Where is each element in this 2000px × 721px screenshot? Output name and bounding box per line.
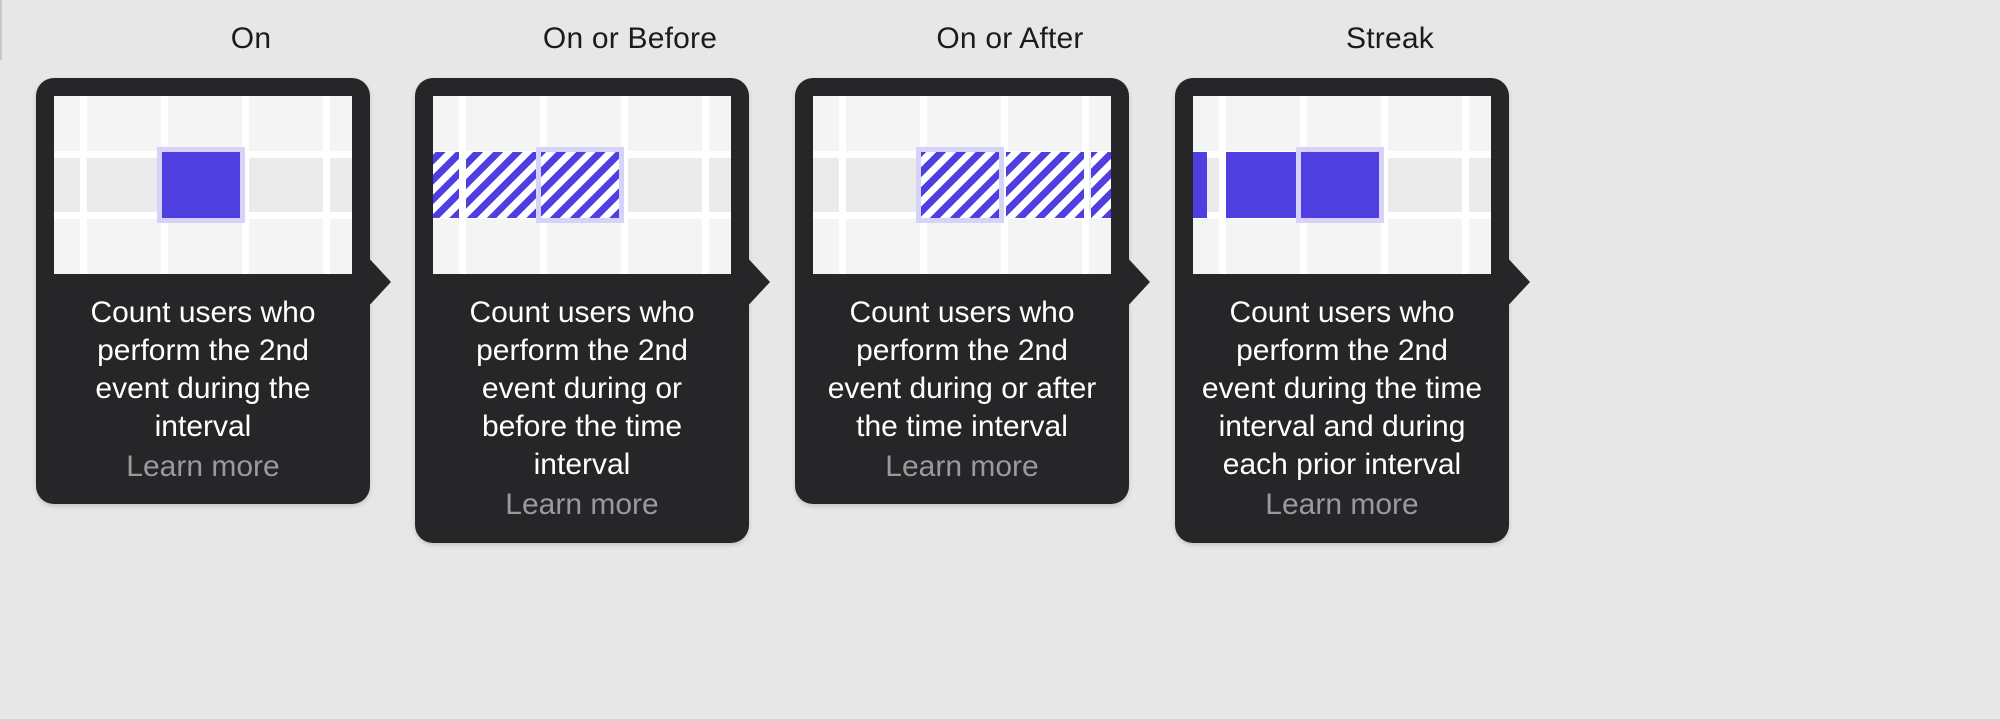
- illustration-on-or-after: [813, 96, 1111, 274]
- column-header-on: On: [36, 0, 466, 54]
- column-header-on-or-after: On or After: [795, 0, 1225, 54]
- illustration-streak: [1193, 96, 1491, 274]
- column-header-on-or-before: On or Before: [415, 0, 845, 54]
- card-description: Count users who perform the 2nd event du…: [54, 294, 352, 446]
- card-description: Count users who perform the 2nd event du…: [433, 294, 731, 484]
- illustration-marks: [1193, 96, 1491, 274]
- illustration-marks: [433, 96, 731, 274]
- card-description: Count users who perform the 2nd event du…: [813, 294, 1111, 446]
- option-card-on[interactable]: Count users who perform the 2nd event du…: [36, 78, 370, 504]
- event-hatch: [433, 152, 459, 218]
- illustration-marks: [54, 96, 352, 274]
- event-hatch: [1006, 152, 1084, 218]
- learn-more-link[interactable]: Learn more: [54, 448, 352, 486]
- flow-chevron-icon: [1504, 254, 1530, 310]
- event-bar: [1193, 152, 1207, 218]
- event-bar: [1226, 152, 1296, 218]
- learn-more-link[interactable]: Learn more: [813, 448, 1111, 486]
- illustration-marks: [813, 96, 1111, 274]
- event-bar: [162, 152, 240, 218]
- option-column-streak: Streak: [1175, 0, 1605, 543]
- illustration-on-or-before: [433, 96, 731, 274]
- option-card-on-or-before[interactable]: Count users who perform the 2nd event du…: [415, 78, 749, 543]
- event-hatch: [1091, 152, 1111, 218]
- option-card-on-or-after[interactable]: Count users who perform the 2nd event du…: [795, 78, 1129, 504]
- learn-more-link[interactable]: Learn more: [1193, 486, 1491, 524]
- event-hatch: [466, 152, 536, 218]
- illustration-on: [54, 96, 352, 274]
- column-header-streak: Streak: [1175, 0, 1605, 54]
- measurement-options-board: On: [0, 0, 2000, 721]
- learn-more-link[interactable]: Learn more: [433, 486, 731, 524]
- left-divider: [0, 0, 2, 60]
- flow-chevron-icon: [744, 254, 770, 310]
- option-card-streak[interactable]: Count users who perform the 2nd event du…: [1175, 78, 1509, 543]
- event-bar: [1301, 152, 1379, 218]
- flow-chevron-icon: [365, 254, 391, 310]
- event-hatch: [541, 152, 619, 218]
- event-hatch: [921, 152, 999, 218]
- option-column-on-or-after: On or After: [795, 0, 1225, 504]
- flow-chevron-icon: [1124, 254, 1150, 310]
- card-description: Count users who perform the 2nd event du…: [1193, 294, 1491, 484]
- option-column-on-or-before: On or Before: [415, 0, 845, 543]
- option-column-on: On: [36, 0, 466, 504]
